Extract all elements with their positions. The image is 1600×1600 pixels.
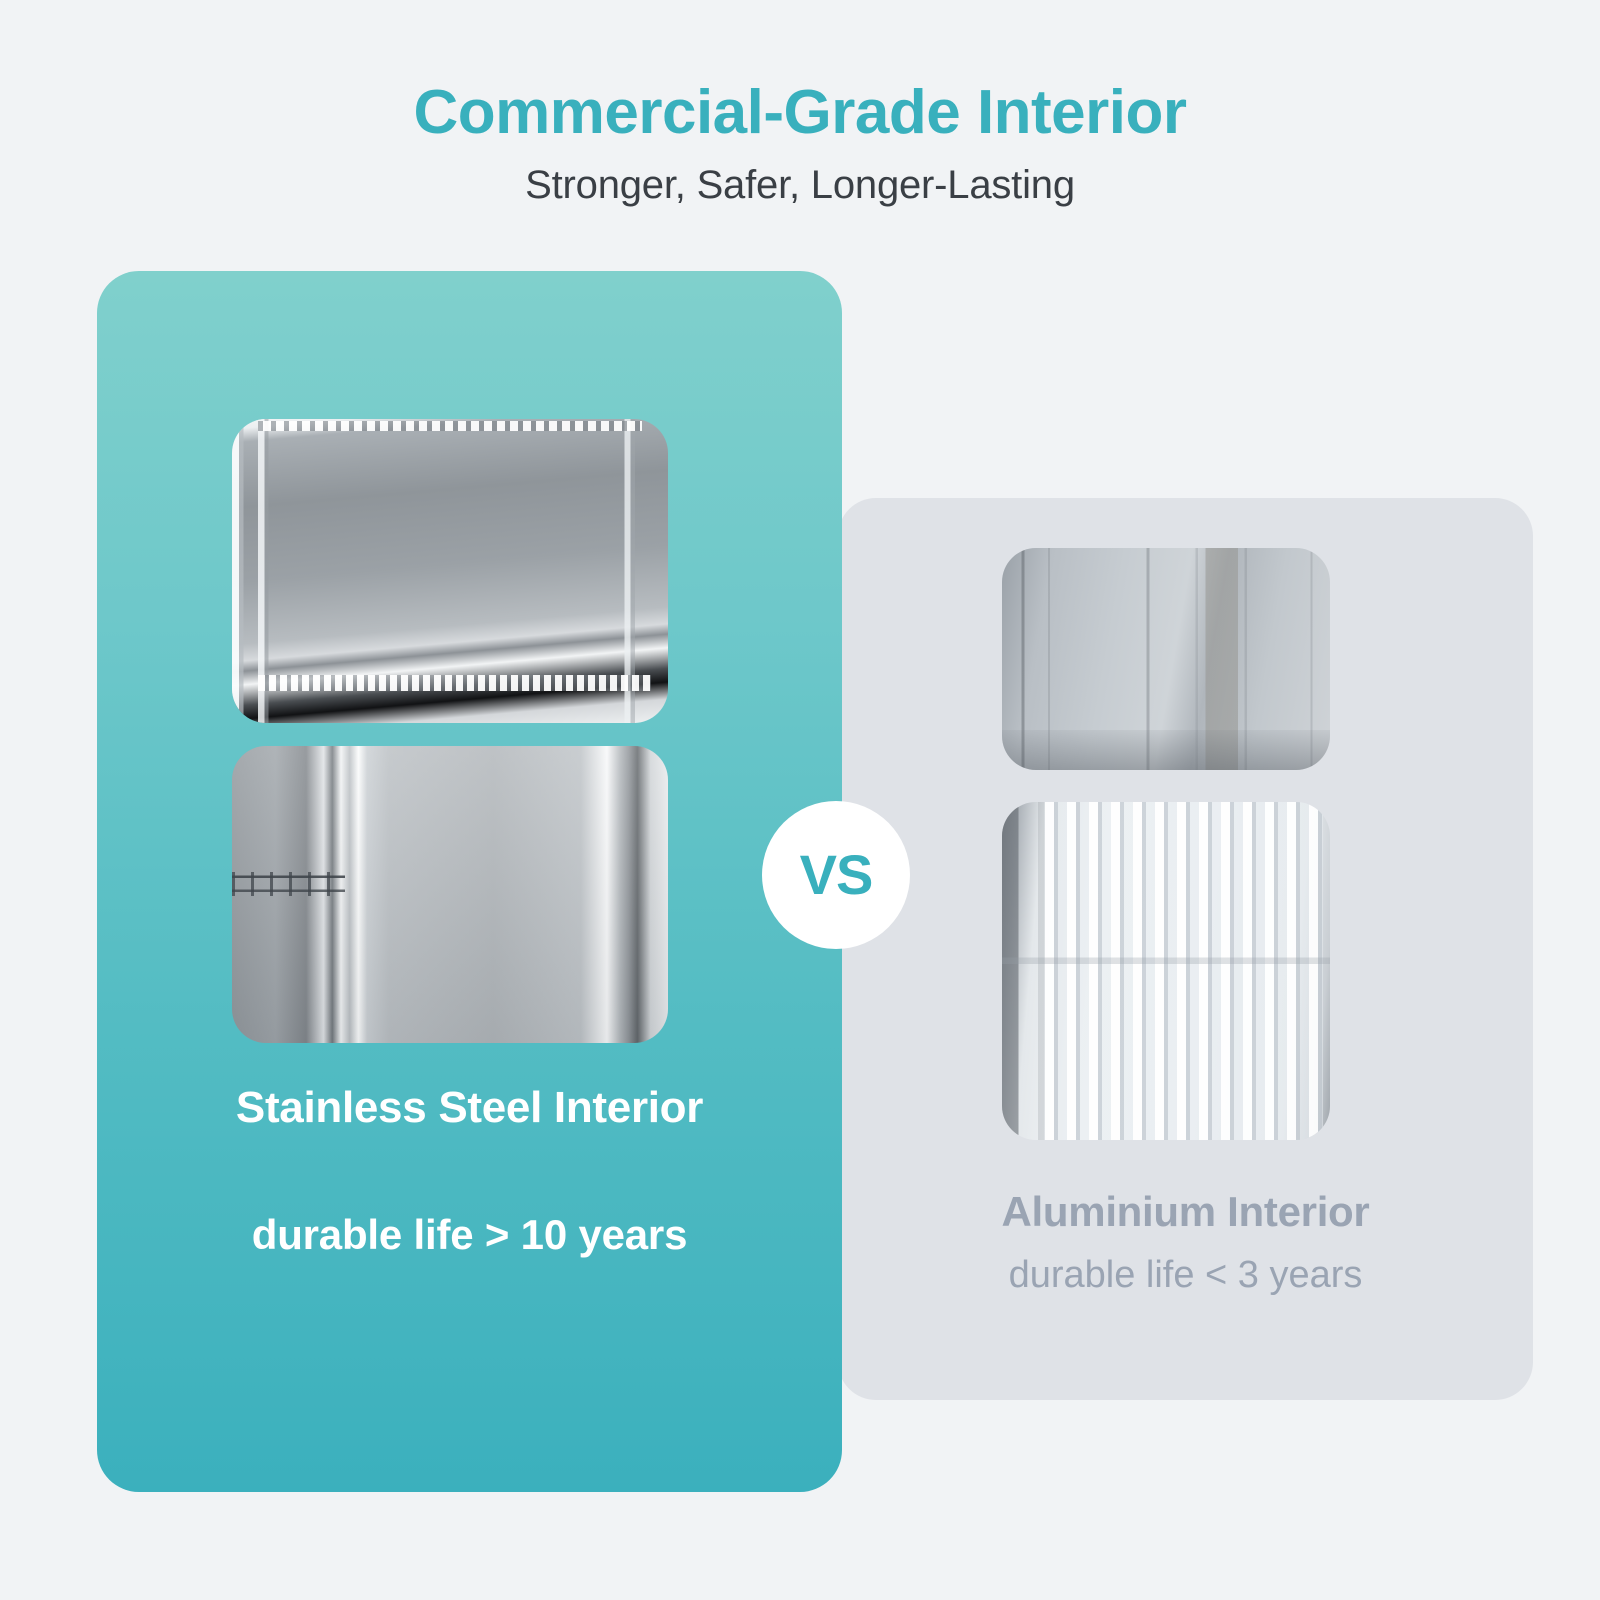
stainless-lifespan: durable life > 10 years	[97, 1211, 842, 1259]
header: Commercial-Grade Interior Stronger, Safe…	[0, 78, 1600, 208]
vs-label: VS	[800, 847, 873, 903]
page-title: Commercial-Grade Interior	[0, 78, 1600, 147]
vs-badge: VS	[762, 801, 910, 949]
stainless-steel-comparison-card: Stainless Steel Interior durable life > …	[97, 271, 842, 1492]
stainless-steel-panel-shelf-photo	[232, 746, 668, 1043]
vent-strip-decoration	[258, 675, 650, 691]
aluminium-comparison-card: Aluminium Interior durable life < 3 year…	[838, 498, 1533, 1400]
infographic-canvas: Commercial-Grade Interior Stronger, Safe…	[0, 0, 1600, 1600]
stainless-label-group: Stainless Steel Interior durable life > …	[97, 1083, 842, 1259]
page-subtitle: Stronger, Safer, Longer-Lasting	[0, 163, 1600, 208]
stainless-title: Stainless Steel Interior	[97, 1083, 842, 1133]
aluminium-photo-group	[1002, 548, 1330, 1140]
stainless-steel-top-interior-photo	[232, 419, 668, 723]
wire-shelf-decoration	[232, 872, 345, 896]
aluminium-label-group: Aluminium Interior durable life < 3 year…	[838, 1188, 1533, 1297]
stainless-photo-group	[232, 419, 668, 1043]
aluminium-interior-panel-photo	[1002, 548, 1330, 770]
aluminium-ribbed-surface-photo	[1002, 802, 1330, 1140]
aluminium-lifespan: durable life < 3 years	[838, 1254, 1533, 1297]
aluminium-title: Aluminium Interior	[838, 1188, 1533, 1236]
